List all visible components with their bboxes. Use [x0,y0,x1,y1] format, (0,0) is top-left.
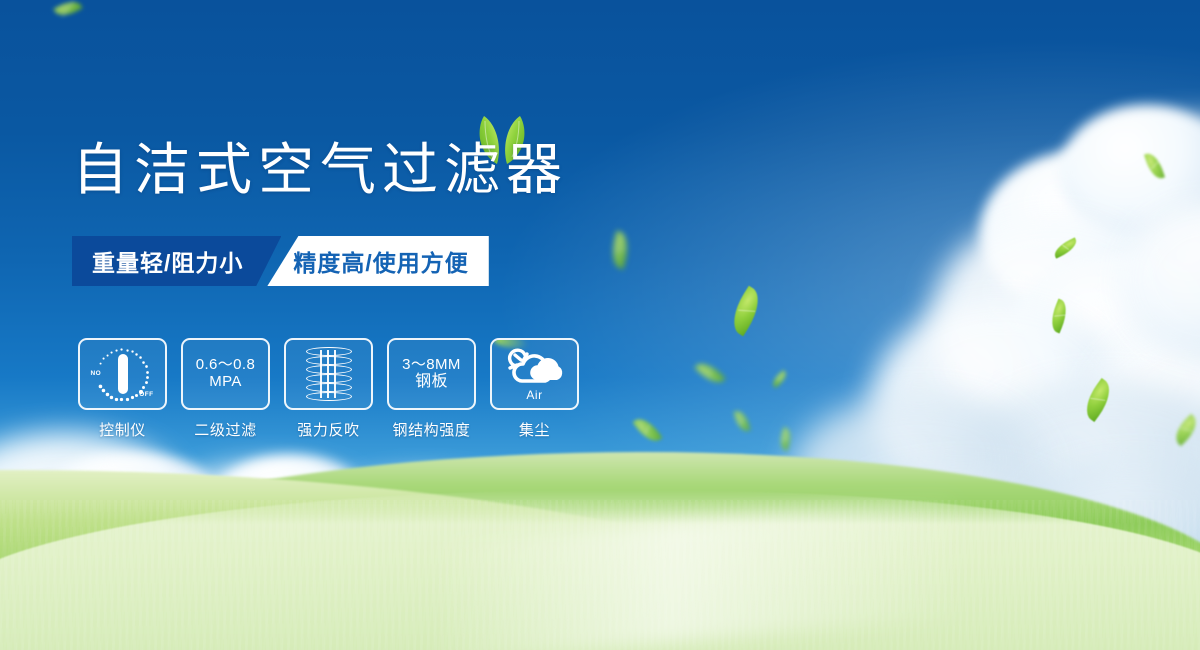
gauge-tick-dot [106,354,108,356]
gauge-tick-dot [105,393,109,397]
feature-caption: 二级过滤 [194,419,256,440]
floating-leaf [694,358,725,389]
gauge-icon: NO OFF [92,345,154,403]
feature-icon-box: 3～8MM 钢板 [387,338,476,410]
floating-leaf [53,0,82,20]
floating-leaf [1170,414,1200,446]
tagline-bar: 重量轻/阻力小 精度高/使用方便 [72,236,489,286]
floating-leaf [1047,299,1072,334]
gauge-tick-dot [139,357,142,360]
feature-badge-dust-collection[interactable]: Air 集尘 [490,338,579,440]
feature-badge-list: NO OFF 控制仪 0.6～0.8 MPA 二级过滤 [78,338,593,440]
feature-badge-two-stage-filter[interactable]: 0.6～0.8 MPA 二级过滤 [181,338,270,440]
gauge-tick-dot [131,351,134,354]
gauge-tick-dot [145,366,148,369]
gauge-tick-dot [143,361,146,364]
gauge-tick-dot [102,358,104,360]
gauge-tick-dot [110,351,112,353]
gauge-tick-dot [131,396,135,400]
feature-icon-box [284,338,373,410]
gauge-tick-dot [99,362,101,364]
feature-value-line2: MPA [209,374,242,391]
filter-coil-icon [306,347,352,401]
floating-leaf [608,231,632,270]
feature-icon-box: 0.6～0.8 MPA [181,338,270,410]
feature-badge-control-meter[interactable]: NO OFF 控制仪 [78,338,167,440]
tagline-secondary: 精度高/使用方便 [267,236,488,286]
floating-leaf [724,286,767,337]
feature-badge-backblow[interactable]: 强力反吹 [284,338,373,440]
gauge-tick-dot [120,398,124,402]
floating-leaf [633,413,663,446]
gauge-label-no: NO [91,370,102,377]
feature-caption: 集尘 [519,419,550,440]
feature-value-line1: 3～8MM [402,357,461,374]
floating-leaf [734,409,751,433]
floating-leaf [1078,378,1118,422]
feature-icon-box: Air [490,338,579,410]
feature-caption: 强力反吹 [297,419,359,440]
cloud-air-icon: Air [502,348,568,400]
floating-leaf [1051,237,1079,258]
gauge-tick-dot [121,349,124,352]
floating-leaf [777,427,794,451]
feature-caption: 钢结构强度 [392,419,470,440]
gauge-tick-dot [115,397,119,401]
floating-leaf [1144,151,1165,182]
gauge-tick-dot [110,396,114,400]
page-title: 自洁式空气过滤器 [72,142,568,198]
gauge-tick-dot [126,349,129,352]
feature-value-line1: 0.6～0.8 [196,357,256,374]
tagline-primary: 重量轻/阻力小 [72,236,281,286]
floating-leaf [770,370,790,388]
feature-value-line2: 钢板 [415,373,448,391]
feature-icon-box: NO OFF [78,338,167,410]
gauge-tick-dot [142,386,145,389]
feature-badge-steel-strength[interactable]: 3～8MM 钢板 钢结构强度 [387,338,476,440]
air-label: Air [502,388,568,402]
gauge-tick-dot [125,398,129,402]
leaf-streak-decoration [494,338,528,348]
gauge-tick-dot [135,394,138,397]
gauge-tick-dot [146,371,149,374]
gauge-tick-dot [146,376,149,379]
gauge-tick-dot [145,381,148,384]
feature-caption: 控制仪 [99,419,146,440]
gauge-tick-dot [115,349,118,352]
gauge-tick-dot [136,353,139,356]
gauge-tick-dot [101,389,105,393]
product-hero-banner: 自洁式空气过滤器 重量轻/阻力小 精度高/使用方便 NO OFF 控制仪 0.6… [0,0,1200,650]
